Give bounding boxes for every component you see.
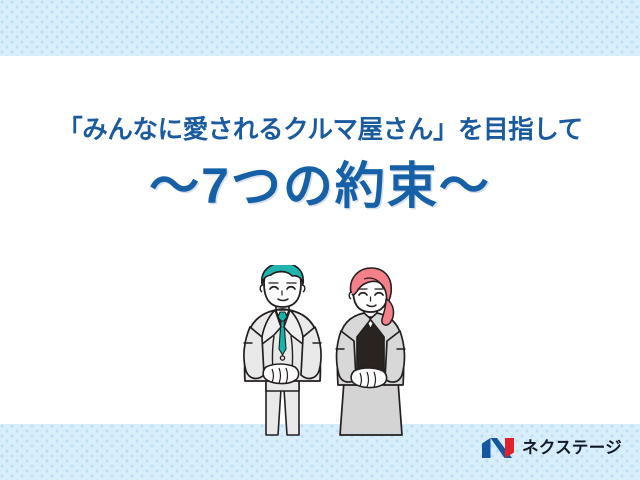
headline-primary: 「みんなに愛されるクルマ屋さん」を目指して bbox=[0, 116, 640, 144]
nextage-n-logo-icon bbox=[481, 437, 515, 459]
headline-block: 「みんなに愛されるクルマ屋さん」を目指して ～7つの約束～ bbox=[0, 116, 640, 216]
brand-name: ネクステージ bbox=[522, 440, 622, 457]
headline-secondary: ～7つの約束～ bbox=[0, 158, 640, 216]
brand-logo: ネクステージ bbox=[481, 437, 622, 459]
female-staff-figure bbox=[336, 268, 405, 435]
male-staff-figure bbox=[244, 265, 321, 435]
two-staff-bowing-illustration bbox=[228, 265, 418, 440]
top-decorative-band bbox=[0, 0, 640, 56]
promotional-banner: 「みんなに愛されるクルマ屋さん」を目指して ～7つの約束～ bbox=[0, 0, 640, 480]
